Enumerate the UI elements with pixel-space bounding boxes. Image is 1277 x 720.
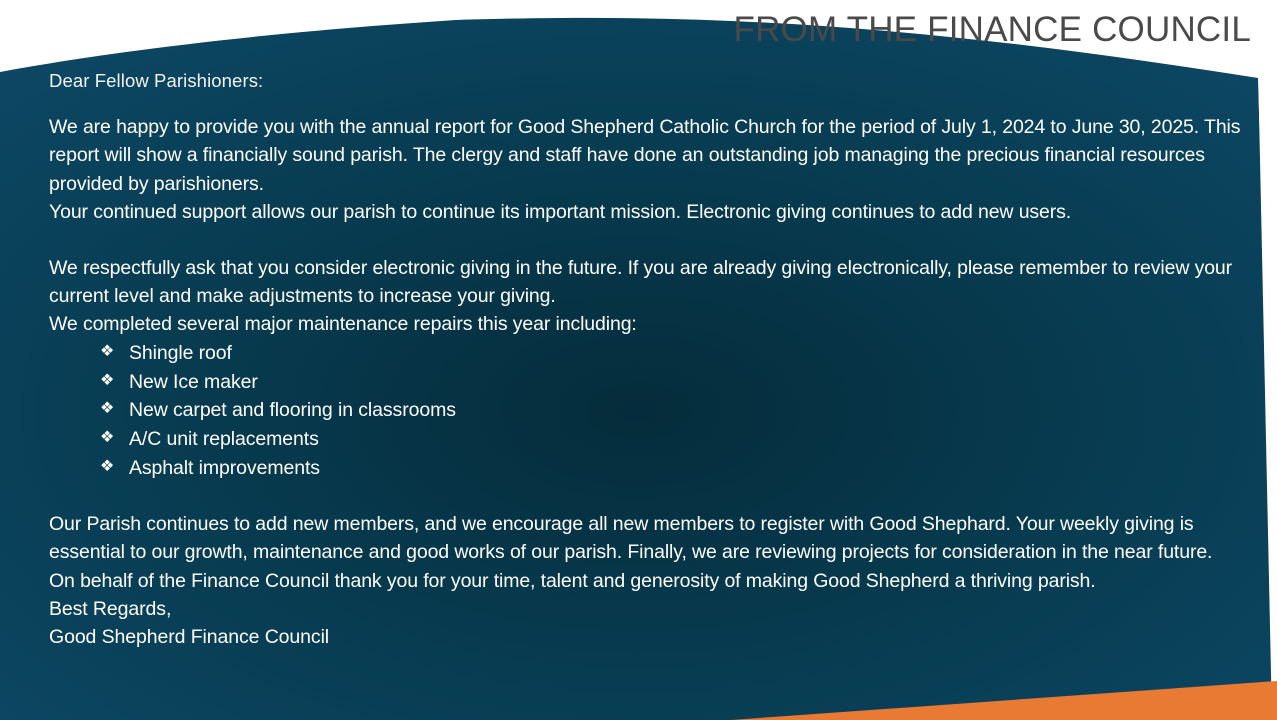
letter-body: Dear Fellow Parishioners: We are happy t… (49, 68, 1259, 652)
paragraph-new-members: Our Parish continues to add new members,… (49, 510, 1259, 567)
closing-signature: Good Shepherd Finance Council (49, 623, 1259, 651)
list-item: ❖ Shingle roof (100, 339, 1259, 368)
diamond-bullet-icon: ❖ (100, 424, 114, 453)
list-item: ❖ A/C unit replacements (100, 425, 1259, 454)
diamond-bullet-icon: ❖ (100, 367, 114, 396)
closing-best-regards: Best Regards, (49, 595, 1259, 623)
list-item-label: Asphalt improvements (129, 457, 320, 479)
list-item-label: New Ice maker (129, 371, 258, 393)
list-item-label: Shingle roof (129, 342, 232, 364)
list-item: ❖ New Ice maker (100, 368, 1259, 397)
diamond-bullet-icon: ❖ (100, 453, 114, 482)
paragraph-annual-report-intro: We are happy to provide you with the ann… (49, 113, 1259, 198)
list-item-label: New carpet and flooring in classrooms (129, 399, 456, 421)
slide-canvas: FROM THE FINANCE COUNCIL Dear Fellow Par… (0, 0, 1277, 720)
page-title: FROM THE FINANCE COUNCIL (733, 8, 1251, 52)
paragraph-thank-you: On behalf of the Finance Council thank y… (49, 567, 1259, 595)
paragraph-electronic-giving-request: We respectfully ask that you consider el… (49, 254, 1259, 311)
list-item: ❖ Asphalt improvements (100, 454, 1259, 483)
list-item-label: A/C unit replacements (129, 428, 319, 450)
paragraph-continued-support: Your continued support allows our parish… (49, 198, 1259, 226)
list-item: ❖ New carpet and flooring in classrooms (100, 396, 1259, 425)
salutation: Dear Fellow Parishioners: (49, 68, 1259, 94)
paragraph-maintenance-intro: We completed several major maintenance r… (49, 310, 1259, 338)
diamond-bullet-icon: ❖ (100, 338, 114, 367)
maintenance-repairs-list: ❖ Shingle roof ❖ New Ice maker ❖ New car… (49, 339, 1259, 483)
diamond-bullet-icon: ❖ (100, 395, 114, 424)
